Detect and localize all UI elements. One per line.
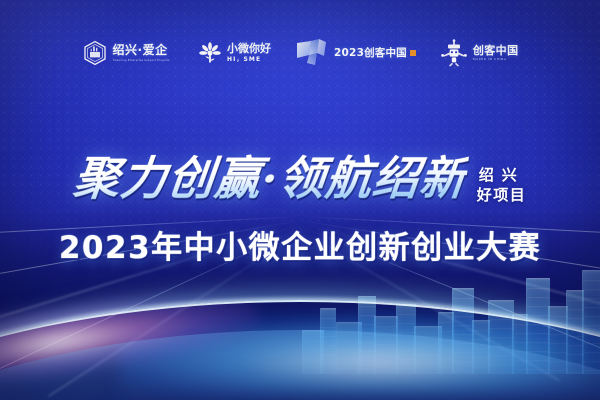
orange-square-icon xyxy=(410,50,416,56)
flower-bloom-icon xyxy=(198,41,222,65)
promo-poster: 绍兴·爱企 Shaoxing Enterprise Support Progra… xyxy=(0,0,600,400)
hexagon-seal-icon xyxy=(82,40,108,66)
logo-label-en: Shaoxing Enterprise Support Program xyxy=(113,59,170,62)
logo-label-cn: 绍兴·爱企 xyxy=(113,44,175,56)
light-sheen-left xyxy=(0,0,382,152)
logo-maker-china[interactable]: 创客中国 MAKER IN CHINA xyxy=(440,39,519,67)
subtitle: 2023年中小微企业创新创业大赛 xyxy=(0,222,600,267)
logo-label-en: MAKER IN CHINA xyxy=(473,58,515,61)
ribbon-wing-icon xyxy=(295,38,329,68)
title-side-block: 绍兴 好项目 xyxy=(477,167,527,208)
logo-label-en: HI，SME xyxy=(227,57,267,63)
title-block: 聚力创赢·领航绍新 绍兴 好项目 xyxy=(0,142,600,208)
logo-hi-sme[interactable]: 小微你好 HI，SME xyxy=(198,41,271,65)
sponsor-logo-bar: 绍兴·爱企 Shaoxing Enterprise Support Progra… xyxy=(0,38,600,68)
logo-label-cn: 小微你好 xyxy=(227,43,271,54)
logo-label-cn: 创客中国 xyxy=(473,45,519,56)
robot-head-icon xyxy=(440,39,468,67)
logo-label-cn-text: 2023创客中国 xyxy=(334,48,407,59)
title-side-line-1: 绍兴 xyxy=(477,167,527,184)
title-side-line-2: 好项目 xyxy=(477,187,527,204)
main-title: 聚力创赢·领航绍新 xyxy=(70,142,470,208)
logo-shaoxing-aiqi[interactable]: 绍兴·爱企 Shaoxing Enterprise Support Progra… xyxy=(82,40,175,66)
logo-maker-china-2023[interactable]: 2023创客中国 xyxy=(295,38,416,68)
logo-label-cn: 2023创客中国 xyxy=(334,48,416,59)
